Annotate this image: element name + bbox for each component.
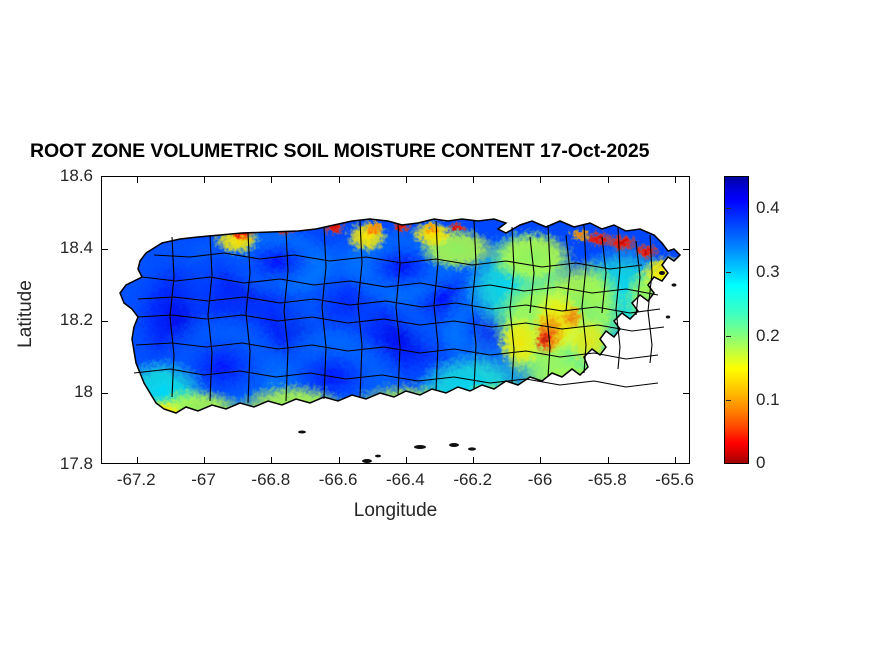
x-tick-label: -65.8: [588, 470, 627, 490]
y-tick-label: 18.2: [60, 310, 93, 330]
puerto-rico-map-svg: [102, 177, 689, 463]
field-noise-overlay: [102, 177, 689, 463]
colorbar-tick: [726, 208, 731, 209]
x-tick-label: -66: [528, 470, 553, 490]
colorbar-tick-label: 0.1: [756, 390, 780, 410]
y-tick-label: 18.4: [60, 238, 93, 258]
colorbar-tick: [726, 272, 731, 273]
x-tick-label: -67: [191, 470, 216, 490]
colorbar-tick-label: 0: [756, 453, 765, 473]
colorbar[interactable]: [724, 176, 749, 464]
x-tick-label: -66.8: [251, 470, 290, 490]
y-axis-title: Latitude: [15, 244, 37, 384]
colorbar-tick: [726, 400, 731, 401]
y-tick-label: 18: [74, 382, 93, 402]
x-tick-label: -65.6: [655, 470, 694, 490]
page-title: ROOT ZONE VOLUMETRIC SOIL MOISTURE CONTE…: [30, 139, 770, 163]
y-tick-label-column: 18.6 18.4 18.2 18 17.8: [0, 176, 93, 464]
x-tick-label: -66.4: [386, 470, 425, 490]
x-axis-title: Longitude: [101, 500, 690, 522]
soil-moisture-raster: [102, 177, 689, 463]
colorbar-tick-label: 0.4: [756, 198, 780, 218]
x-tick-label: -66.6: [319, 470, 358, 490]
x-tick-label: -67.2: [117, 470, 156, 490]
y-tick-label: 18.6: [60, 166, 93, 186]
colorbar-tick: [726, 336, 731, 337]
figure-canvas: ROOT ZONE VOLUMETRIC SOIL MOISTURE CONTE…: [0, 0, 875, 656]
colorbar-tick-label: 0.2: [756, 326, 780, 346]
map-axes: [101, 176, 690, 464]
x-tick-label: -66.2: [453, 470, 492, 490]
moisture-field-group: [102, 177, 689, 463]
y-tick-label: 17.8: [60, 454, 93, 474]
colorbar-tick-label: 0.3: [756, 262, 780, 282]
